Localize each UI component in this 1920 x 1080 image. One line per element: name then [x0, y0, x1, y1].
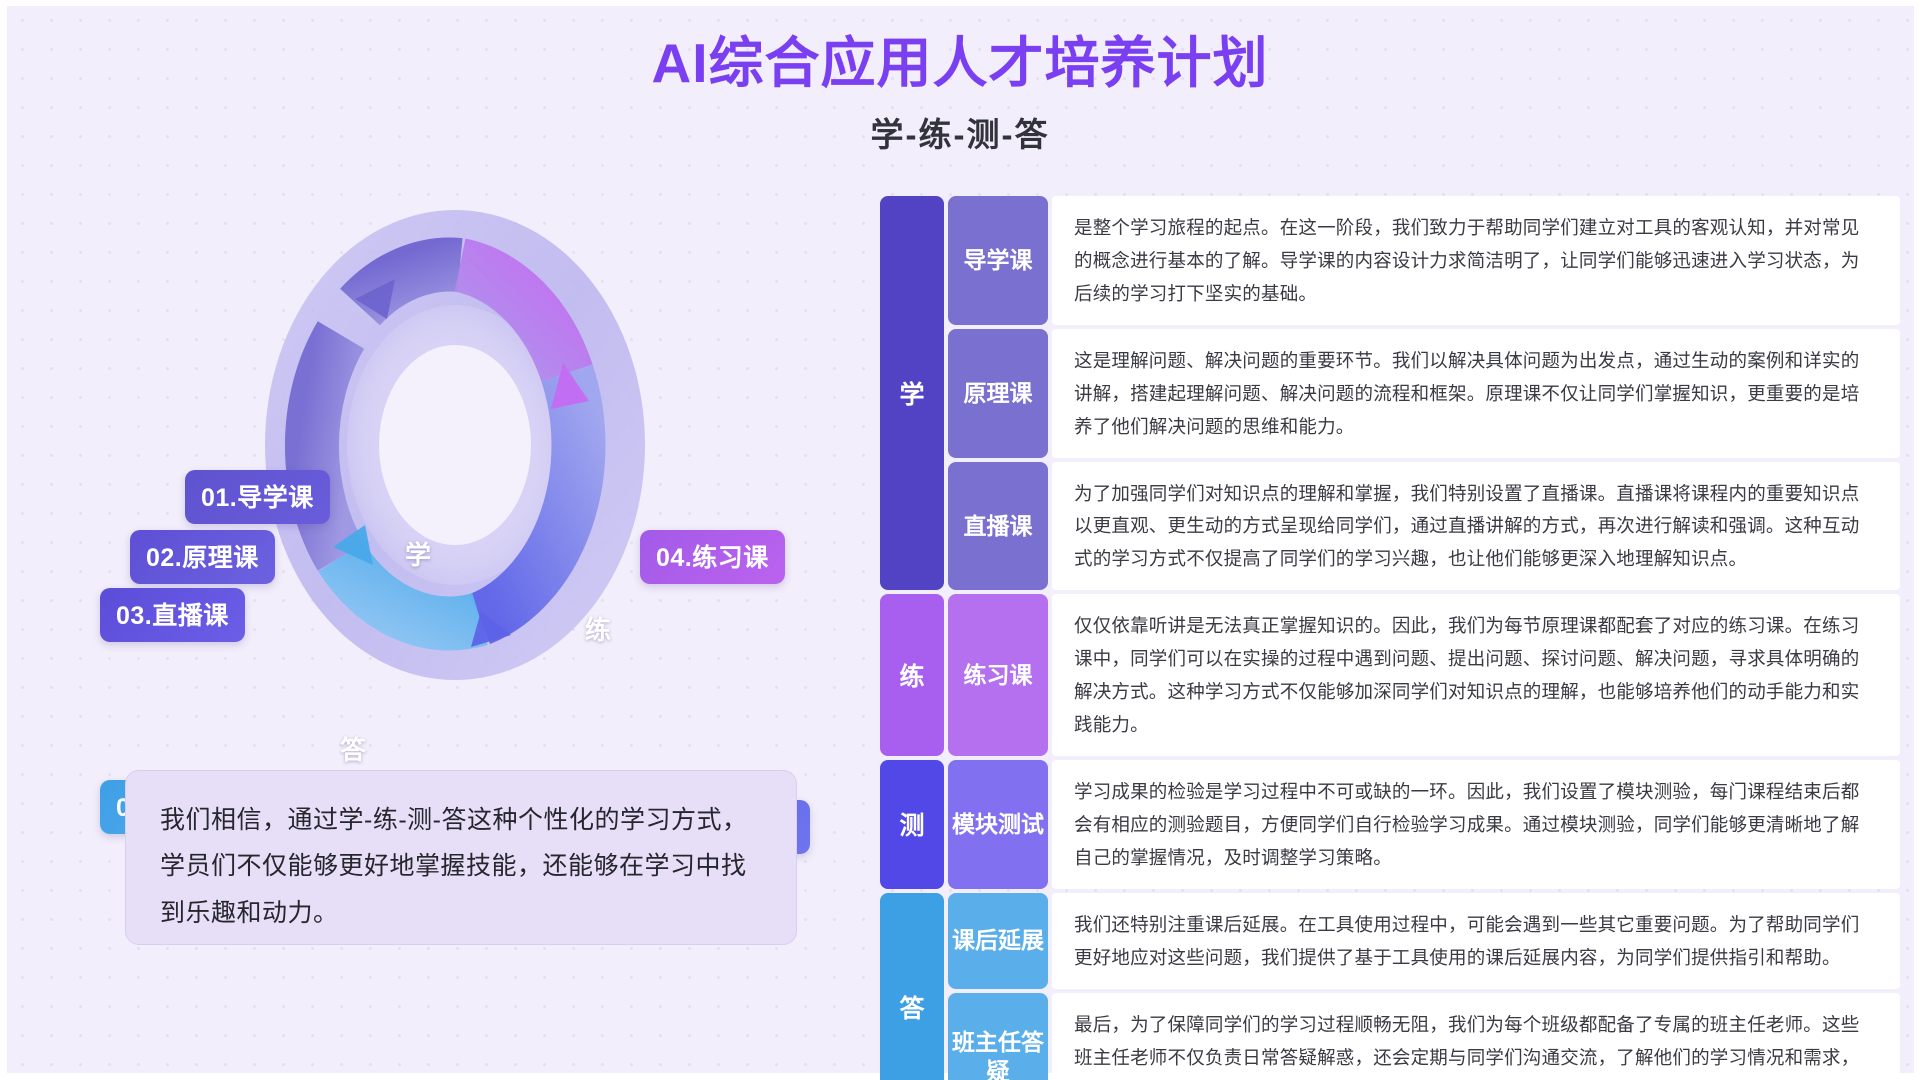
row-header-lianxike: 练习课 [948, 594, 1048, 756]
table-row: 导学课 是整个学习旅程的起点。在这一阶段，我们致力于帮助同学们建立对工具的客观认… [948, 196, 1900, 325]
summary-callout: 我们相信，通过学-练-测-答这种个性化的学习方式，学员们不仅能够更好地掌握技能，… [125, 770, 797, 945]
table-group-ce: 测 模块测试 学习成果的检验是学习过程中不可或缺的一环。因此，我们设置了模块测验… [880, 760, 1900, 889]
table-row: 原理课 这是理解问题、解决问题的重要环节。我们以解决具体问题为出发点，通过生动的… [948, 329, 1900, 458]
row-header-yuanlike: 原理课 [948, 329, 1048, 458]
row-description: 为了加强同学们对知识点的理解和掌握，我们特别设置了直播课。直播课将课程内的重要知… [1052, 462, 1900, 591]
cycle-diagram: 学 练 测 答 01.导学课 02.原理课 03.直播课 04.练习课 05.模… [20, 185, 860, 705]
ring-label-xue: 学 [405, 535, 431, 572]
row-description: 这是理解问题、解决问题的重要环节。我们以解决具体问题为出发点，通过生动的案例和详… [1052, 329, 1900, 458]
group-header-lian: 练 [880, 594, 944, 756]
row-header-kehouyanzhan: 课后延展 [948, 893, 1048, 989]
group-header-da: 答 [880, 893, 944, 1080]
table-row: 课后延展 我们还特别注重课后延展。在工具使用过程中，可能会遇到一些其它重要问题。… [948, 893, 1900, 989]
page-title: AI综合应用人才培养计划 [0, 30, 1920, 96]
row-description: 仅仅依靠听讲是无法真正掌握知识的。因此，我们为每节原理课都配套了对应的练习课。在… [1052, 594, 1900, 756]
page-border-top [0, 0, 1920, 6]
group-header-xue: 学 [880, 196, 944, 590]
row-header-banzhurendayi: 班主任答疑 [948, 993, 1048, 1080]
row-description: 是整个学习旅程的起点。在这一阶段，我们致力于帮助同学们建立对工具的客观认知，并对… [1052, 196, 1900, 325]
pill-02-yuanlike[interactable]: 02.原理课 [130, 530, 275, 584]
summary-text: 我们相信，通过学-练-测-答这种个性化的学习方式，学员们不仅能够更好地掌握技能，… [160, 797, 762, 936]
table-row: 班主任答疑 最后，为了保障同学们的学习过程顺畅无阻，我们为每个班级都配备了专属的… [948, 993, 1900, 1080]
ring-label-lian: 练 [585, 610, 611, 647]
page-subtitle: 学-练-测-答 [0, 108, 1920, 156]
table-group-da: 答 课后延展 我们还特别注重课后延展。在工具使用过程中，可能会遇到一些其它重要问… [880, 893, 1900, 1080]
row-description: 最后，为了保障同学们的学习过程顺畅无阻，我们为每个班级都配备了专属的班主任老师。… [1052, 993, 1900, 1080]
row-description: 我们还特别注重课后延展。在工具使用过程中，可能会遇到一些其它重要问题。为了帮助同… [1052, 893, 1900, 989]
pill-04-lianxike[interactable]: 04.练习课 [640, 530, 785, 584]
row-header-mokuaiceshi: 模块测试 [948, 760, 1048, 889]
table-row: 模块测试 学习成果的检验是学习过程中不可或缺的一环。因此，我们设置了模块测验，每… [948, 760, 1900, 889]
ring-label-da: 答 [340, 730, 366, 767]
group-header-ce: 测 [880, 760, 944, 889]
pill-03-zhiboke[interactable]: 03.直播课 [100, 588, 245, 642]
page-border-left [0, 0, 7, 1080]
table-row: 直播课 为了加强同学们对知识点的理解和掌握，我们特别设置了直播课。直播课将课程内… [948, 462, 1900, 591]
page-border-right [1914, 0, 1920, 1080]
table-group-xue: 学 导学课 是整个学习旅程的起点。在这一阶段，我们致力于帮助同学们建立对工具的客… [880, 196, 1900, 590]
page-header: AI综合应用人才培养计划 学-练-测-答 [0, 30, 1920, 156]
table-group-lian: 练 练习课 仅仅依靠听讲是无法真正掌握知识的。因此，我们为每节原理课都配套了对应… [880, 594, 1900, 756]
curriculum-table: 学 导学课 是整个学习旅程的起点。在这一阶段，我们致力于帮助同学们建立对工具的客… [880, 196, 1900, 1044]
table-row: 练习课 仅仅依靠听讲是无法真正掌握知识的。因此，我们为每节原理课都配套了对应的练… [948, 594, 1900, 756]
row-header-zhiboke: 直播课 [948, 462, 1048, 591]
row-description: 学习成果的检验是学习过程中不可或缺的一环。因此，我们设置了模块测验，每门课程结束… [1052, 760, 1900, 889]
row-header-daoxueke: 导学课 [948, 196, 1048, 325]
pill-01-daoxueke[interactable]: 01.导学课 [185, 470, 330, 524]
